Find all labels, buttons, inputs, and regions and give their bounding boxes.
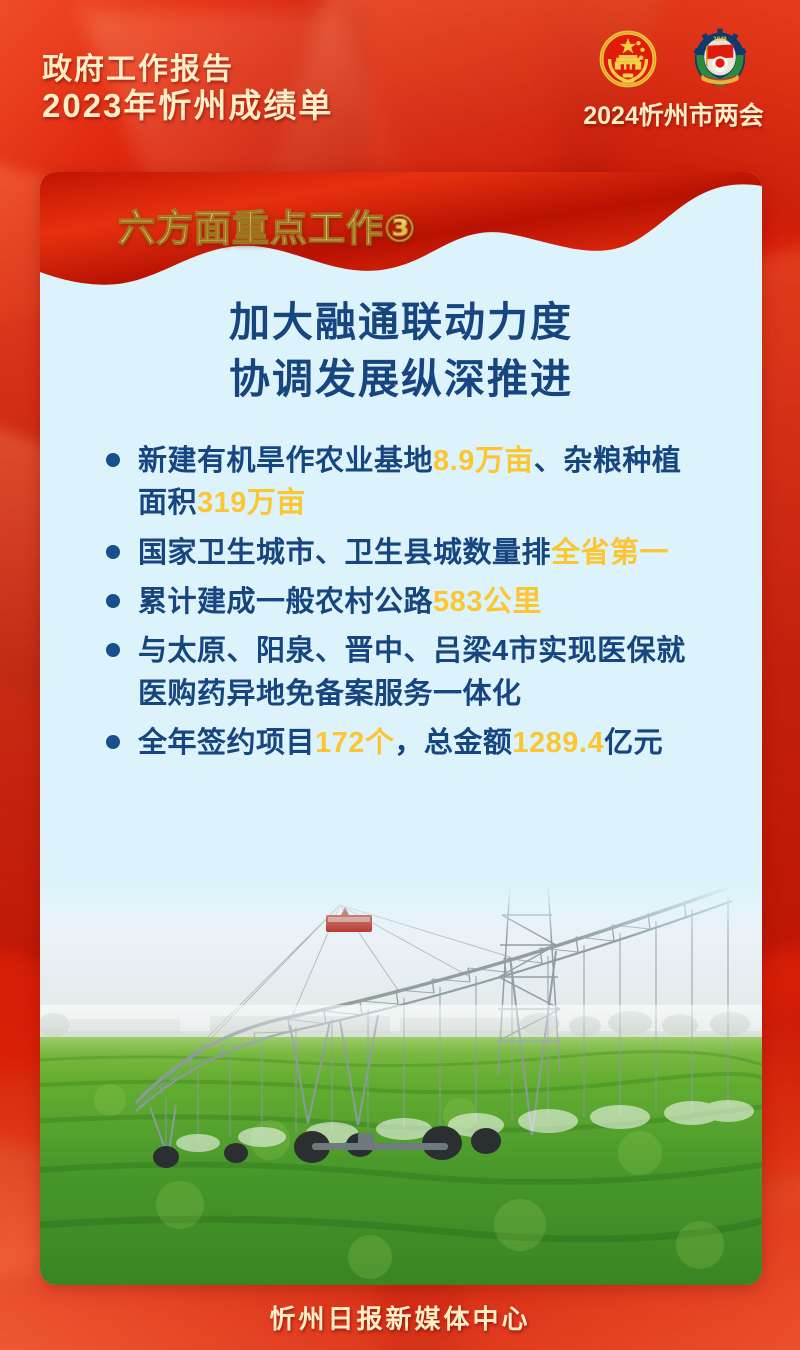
cppcc-emblem-icon: 1949 <box>687 26 753 92</box>
bullet-dot-icon <box>106 594 120 608</box>
bullet-text: 与太原、阳泉、晋中、吕梁4市实现医保就医购药异地免备案服务一体化 <box>138 635 686 709</box>
bullet-highlight-value: 全省第一 <box>551 537 669 569</box>
bullet-item: 全年签约项目172个，总金额1289.4亿元 <box>102 722 702 764</box>
bullet-dot-icon <box>106 545 120 559</box>
bullet-list: 新建有机旱作农业基地8.9万亩、杂粮种植面积319万亩国家卫生城市、卫生县城数量… <box>102 440 702 771</box>
card-main-title: 加大融通联动力度 协调发展纵深推进 <box>80 294 722 407</box>
header-title-group: 政府工作报告 2023年忻州成绩单 <box>42 52 333 126</box>
bullet-highlight-value: 583公里 <box>433 586 542 618</box>
bullet-highlight-value: 8.9万亩 <box>433 445 534 477</box>
bullet-text: 新建有机旱作农业基地 <box>138 445 433 477</box>
bullet-dot-icon <box>106 735 120 749</box>
emblem-row: 1949 <box>571 26 776 92</box>
poster-root: 政府工作报告 2023年忻州成绩单 <box>0 0 800 1350</box>
bullet-highlight-value: 1289.4 <box>512 727 604 759</box>
section-label: 六方面重点工作③ <box>118 198 416 252</box>
content-card: 六方面重点工作③ 加大融通联动力度 协调发展纵深推进 新建有机旱作农业基地8.9… <box>40 172 762 1285</box>
irrigation-photo <box>40 885 762 1285</box>
bullet-text: 全年签约项目 <box>138 727 315 759</box>
bullet-highlight-value: 319万亩 <box>197 487 306 519</box>
bullet-dot-icon <box>106 643 120 657</box>
poster-header: 政府工作报告 2023年忻州成绩单 <box>0 0 800 170</box>
bullet-item: 新建有机旱作农业基地8.9万亩、杂粮种植面积319万亩 <box>102 440 702 525</box>
emblem-group: 1949 2024忻州市两会 <box>571 26 776 132</box>
bullet-dot-icon <box>106 453 120 467</box>
main-title-line1: 加大融通联动力度 <box>80 294 722 351</box>
bullet-item: 国家卫生城市、卫生县城数量排全省第一 <box>102 532 702 574</box>
svg-text:1949: 1949 <box>713 37 727 43</box>
footer-credit: 忻州日报新媒体中心 <box>269 1299 530 1336</box>
bullet-text: 亿元 <box>604 727 663 759</box>
bullet-item: 与太原、阳泉、晋中、吕梁4市实现医保就医购药异地免备案服务一体化 <box>102 630 702 715</box>
poster-footer: 忻州日报新媒体中心 <box>0 1285 800 1350</box>
main-title-line2: 协调发展纵深推进 <box>80 351 722 408</box>
bullet-text: 累计建成一般农村公路 <box>138 586 433 618</box>
bullet-text: ，总金额 <box>394 727 512 759</box>
header-title-line2: 2023年忻州成绩单 <box>42 87 333 126</box>
national-emblem-icon <box>595 26 661 92</box>
bullet-highlight-value: 172个 <box>315 727 394 759</box>
bullet-text: 、 <box>534 445 564 477</box>
bullet-text: 国家卫生城市、卫生县城数量排 <box>138 537 551 569</box>
header-title-line1: 政府工作报告 <box>42 52 333 87</box>
bullet-item: 累计建成一般农村公路583公里 <box>102 581 702 623</box>
emblem-caption: 2024忻州市两会 <box>571 96 776 132</box>
